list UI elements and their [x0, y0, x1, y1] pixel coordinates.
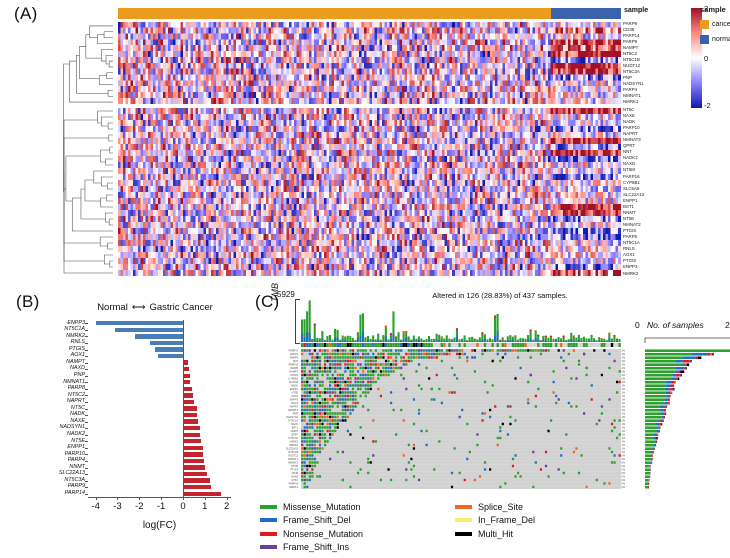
- panel-c-legend-label: In_Frame_Del: [478, 515, 535, 525]
- annotation-normal-segment: [551, 8, 621, 19]
- panel-b-x-tickmark: [139, 497, 140, 500]
- panel-c-right-axis-line: [643, 336, 730, 347]
- panel-b-bar: [183, 419, 198, 423]
- panel-b-y-tickmark: [85, 487, 88, 488]
- panel-c-legend-item: Splice_Site: [455, 500, 535, 514]
- panel-b-bar: [183, 446, 203, 450]
- panel-b-gene-label: AOX1: [71, 353, 85, 358]
- panel-b-gene-label: SLC22A13: [59, 471, 85, 476]
- panel-b-gene-label: PNP: [74, 373, 85, 378]
- panel-b-bar: [183, 439, 201, 443]
- panel-b-bar: [183, 465, 205, 469]
- colorbar-tick-mid: 0: [704, 54, 708, 63]
- panel-a-gene-label: NT5C1A: [623, 241, 687, 245]
- panel-b-y-tickmark: [85, 356, 88, 357]
- colorbar-tick-min: -2: [704, 101, 711, 110]
- panel-c-legend-swatch: [260, 545, 277, 549]
- panel-c-legend-label: Multi_Hit: [478, 529, 513, 539]
- panel-b-gene-label: NAPRT: [67, 399, 85, 404]
- panel-b-barplot: (B) Normal ⟷ Gastric Cancer ENPP3NT5C1AN…: [0, 288, 258, 558]
- panel-a-gene-label: ENPP1: [623, 199, 687, 203]
- panel-c-tmb-axis-label: TMB: [270, 283, 280, 302]
- panel-c-legend-label: Frame_Shift_Ins: [283, 542, 349, 552]
- panel-a-gene-label: NT5E: [623, 217, 687, 221]
- panel-c-legend-swatch: [260, 505, 277, 509]
- figure-root: (A) sample PARP8CD38PARP14PARP9NAMPTNT5C…: [0, 0, 730, 558]
- panel-b-x-tick-label: 0: [176, 501, 190, 512]
- panel-a-gene-label: NNT: [623, 150, 687, 154]
- panel-a-gene-label: SLC22A13: [623, 193, 687, 197]
- panel-a-gene-label: NADK: [623, 120, 687, 124]
- panel-a-gene-label: NT5C1B: [623, 58, 687, 62]
- legend-swatch-cancer: [700, 20, 709, 29]
- panel-b-gene-label: NADK: [70, 412, 85, 417]
- panel-b-y-tickmark: [85, 474, 88, 475]
- panel-a-gene-label: NT5C3A: [623, 70, 687, 74]
- panel-b-y-tickmark: [85, 435, 88, 436]
- panel-b-y-tickmark: [85, 468, 88, 469]
- panel-b-x-tick-label: -3: [110, 501, 124, 512]
- panel-a-gene-label: PNP: [623, 76, 687, 80]
- panel-b-bar: [183, 406, 197, 410]
- panel-c-right-axis-title: No. of samples: [647, 320, 704, 330]
- panel-b-y-tickmark: [85, 448, 88, 449]
- panel-b-y-tickmark: [85, 389, 88, 390]
- panel-a-gene-label: CD38: [623, 28, 687, 32]
- legend-label-normal: normal: [712, 36, 730, 43]
- panel-c-oncoprint-grid: [301, 349, 621, 489]
- panel-b-x-tickmark: [183, 497, 184, 500]
- panel-b-gene-label: ENPP1: [67, 445, 85, 450]
- panel-a-gene-label: PARP14: [623, 34, 687, 38]
- panel-a-gene-label: RNLS: [623, 247, 687, 251]
- panel-b-bar: [158, 354, 183, 358]
- panel-b-gene-label: PARP8: [68, 386, 85, 391]
- panel-c-legend-label: Nonsense_Mutation: [283, 529, 363, 539]
- panel-b-y-tickmark: [85, 461, 88, 462]
- panel-a-gene-label: PARP16: [623, 175, 687, 179]
- panel-a-gene-label: NT5C: [623, 108, 687, 112]
- panel-a-heatmap-cluster-top: [118, 22, 621, 104]
- panel-a-gene-label: PARP4: [623, 88, 687, 92]
- panel-b-y-tickmark: [85, 395, 88, 396]
- panel-c-legend-item: Multi_Hit: [455, 527, 535, 541]
- panel-a-gene-label: PTGIS: [623, 229, 687, 233]
- panel-b-y-tickmark: [85, 343, 88, 344]
- direction-label-right: Gastric Cancer: [149, 302, 212, 313]
- panel-b-x-tickmark: [161, 497, 162, 500]
- panel-c-legend-swatch: [455, 505, 472, 509]
- panel-b-y-tickmark: [85, 481, 88, 482]
- panel-a-gene-labels-bottom: NT5CNAXENADKPARP10NAPRTNMNAT3QPRTNNTNADK…: [623, 107, 687, 277]
- panel-b-y-tickmark: [85, 441, 88, 442]
- panel-a-gene-label: NT5M: [623, 168, 687, 172]
- panel-a-gene-label: NAXE: [623, 114, 687, 118]
- panel-c-right-barplot: [645, 349, 730, 489]
- panel-b-y-tickmark: [85, 323, 88, 324]
- panel-b-bar: [183, 459, 204, 463]
- panel-b-gene-label: NAXD: [70, 366, 85, 371]
- panel-b-bar: [150, 341, 183, 345]
- panel-a-gene-label: NMNAT1: [623, 94, 687, 98]
- annotation-cancer-segment: [118, 8, 551, 19]
- panel-c-sample-annotation-strip: [301, 343, 621, 347]
- panel-b-y-tickmark: [85, 363, 88, 364]
- panel-b-bar: [183, 472, 207, 476]
- panel-a-gene-label: NMNAT3: [623, 138, 687, 142]
- panel-a-dendrogram: [62, 22, 115, 276]
- panel-c-legend-label: Splice_Site: [478, 502, 523, 512]
- panel-a-gene-label: PARP9: [623, 40, 687, 44]
- panel-a-gene-label: NAXD: [623, 162, 687, 166]
- panel-b-gene-label: RNLS: [71, 340, 85, 345]
- panel-c-legend-item: Frame_Shift_Del: [260, 514, 363, 528]
- panel-b-gene-labels: ENPP3NT5C1ANMRK2RNLSPTGISAOX1NAMPTNAXDPN…: [0, 320, 85, 497]
- panel-b-x-tickmark: [96, 497, 97, 500]
- panel-b-y-tickmark: [85, 415, 88, 416]
- panel-a-gene-label: NUDT12: [623, 64, 687, 68]
- panel-b-y-tickmark: [85, 454, 88, 455]
- panel-a-gene-label: ENPP3: [623, 265, 687, 269]
- panel-c-legend-swatch: [455, 532, 472, 536]
- panel-a-gene-label: NAPRT: [623, 132, 687, 136]
- panel-a-gene-label: NADSYN1: [623, 82, 687, 86]
- panel-a-gene-label: NAMPT: [623, 46, 687, 50]
- panel-b-y-tickmark: [85, 382, 88, 383]
- panel-a-gene-label: CYP8B1: [623, 181, 687, 185]
- panel-b-x-tickmark: [227, 497, 228, 500]
- panel-c-legend-label: Missense_Mutation: [283, 502, 361, 512]
- panel-a-gene-label: NMRK1: [623, 100, 687, 104]
- panel-a-sample-annotation-bar: [118, 8, 621, 19]
- direction-label-left: Normal: [97, 302, 128, 313]
- panel-a-gene-label: BST1: [623, 205, 687, 209]
- panel-b-bar: [183, 387, 192, 391]
- panel-c-right-axis-min: 0: [635, 320, 640, 330]
- panel-b-plot-area: [88, 320, 231, 497]
- panel-c-legend-item: Nonsense_Mutation: [260, 527, 363, 541]
- panel-a-gene-labels-top: PARP8CD38PARP14PARP9NAMPTNT5C2NT5C1BNUDT…: [623, 21, 687, 105]
- panel-b-x-tick-label: -4: [89, 501, 103, 512]
- panel-a-gene-label: NADK2: [623, 156, 687, 160]
- panel-c-legend-label: Frame_Shift_Del: [283, 515, 351, 525]
- panel-c-oncoprint-gene-labels: [257, 349, 299, 489]
- panel-c-legend-item: Frame_Shift_Ins: [260, 541, 363, 555]
- panel-b-bar: [183, 400, 194, 404]
- panel-b-x-tick-label: 2: [220, 501, 234, 512]
- panel-b-bar: [183, 452, 204, 456]
- panel-b-y-tickmark: [85, 494, 88, 495]
- panel-c-right-axis-max: 21: [725, 320, 730, 330]
- panel-b-bar: [183, 413, 197, 417]
- panel-b-gene-label: PARP14: [65, 491, 85, 496]
- panel-a-gene-label: PARP8: [623, 22, 687, 26]
- panel-b-y-tickmark: [85, 376, 88, 377]
- panel-b-bar: [183, 478, 210, 482]
- panel-b-bar: [96, 321, 183, 325]
- panel-a-gene-label: PTGIS: [623, 259, 687, 263]
- panel-b-letter: (B): [16, 292, 40, 312]
- panel-c-legend-swatch: [260, 518, 277, 522]
- legend-item-cancer: cancer: [700, 20, 730, 29]
- panel-b-y-tickmark: [85, 409, 88, 410]
- panel-b-gene-label: PARP9: [68, 484, 85, 489]
- panel-b-x-axis-label: log(FC): [88, 520, 231, 531]
- panel-a-gene-label: NT5C2: [623, 52, 687, 56]
- panel-b-x-tick-label: 1: [198, 501, 212, 512]
- panel-b-bar: [183, 393, 193, 397]
- panel-b-direction-label: Normal ⟷ Gastric Cancer: [60, 300, 250, 314]
- panel-b-y-tickmark: [85, 330, 88, 331]
- panel-a-annotation-title: sample: [624, 7, 648, 14]
- panel-b-y-tickmark: [85, 402, 88, 403]
- panel-a-heatmap-cluster-bottom: [118, 108, 621, 276]
- panel-b-bar: [135, 334, 183, 338]
- panel-b-gene-label: PARP4: [68, 458, 85, 463]
- panel-b-x-tick-label: -1: [154, 501, 168, 512]
- panel-b-x-tickmark: [117, 497, 118, 500]
- panel-b-y-tickmark: [85, 350, 88, 351]
- panel-b-bar: [183, 492, 221, 496]
- panel-a-gene-label: AOX1: [623, 253, 687, 257]
- panel-c-percent-hash-column: [621, 349, 633, 489]
- panel-b-x-tickmark: [205, 497, 206, 500]
- panel-b-bar: [183, 426, 200, 430]
- panel-a-legend-title: sample: [700, 5, 726, 14]
- panel-a-gene-label: PARP6: [623, 235, 687, 239]
- panel-c-tmb-axis: [295, 299, 300, 344]
- panel-b-gene-label: NT5C1A: [64, 327, 85, 332]
- panel-c-tmb-barplot: [301, 299, 621, 342]
- panel-b-bar: [183, 433, 200, 437]
- direction-arrow-icon: ⟷: [132, 302, 146, 313]
- panel-b-gene-label: NADK2: [67, 432, 85, 437]
- panel-c-legend: Missense_MutationFrame_Shift_DelNonsense…: [260, 500, 710, 556]
- panel-c-legend-swatch: [455, 518, 472, 522]
- panel-b-bar: [155, 347, 183, 351]
- panel-b-y-tickmark: [85, 428, 88, 429]
- panel-a-gene-label: NNMT: [623, 211, 687, 215]
- panel-b-x-axis: [88, 497, 231, 498]
- panel-a-gene-label: PARP10: [623, 126, 687, 130]
- panel-b-y-tickmark: [85, 422, 88, 423]
- legend-swatch-normal: [700, 35, 709, 44]
- panel-c-legend-swatch: [260, 532, 277, 536]
- panel-a-gene-label: SLC5A8: [623, 187, 687, 191]
- panel-a-letter: (A): [14, 4, 38, 24]
- panel-a-gene-label: QPRT: [623, 144, 687, 148]
- panel-b-zero-axis: [183, 320, 184, 497]
- panel-b-bar: [183, 380, 190, 384]
- panel-c-legend-item: In_Frame_Del: [455, 514, 535, 528]
- panel-b-bar: [183, 485, 211, 489]
- panel-b-y-tickmark: [85, 369, 88, 370]
- panel-a-gene-label: NMNAT2: [623, 223, 687, 227]
- panel-a-heatmap: (A) sample PARP8CD38PARP14PARP9NAMPTNT5C…: [0, 0, 730, 288]
- panel-c-oncoprint: (C) 5929 TMB Altered in 126 (28.83%) of …: [255, 288, 730, 558]
- panel-b-x-tick-label: -2: [132, 501, 146, 512]
- panel-b-y-tickmark: [85, 336, 88, 337]
- legend-item-normal: normal: [700, 35, 730, 44]
- panel-c-legend-item: Missense_Mutation: [260, 500, 363, 514]
- panel-a-gene-label: NMRK2: [623, 272, 687, 276]
- panel-b-gene-label: NADSYN1: [60, 425, 85, 430]
- legend-label-cancer: cancer: [712, 21, 730, 28]
- panel-b-bar: [115, 328, 183, 332]
